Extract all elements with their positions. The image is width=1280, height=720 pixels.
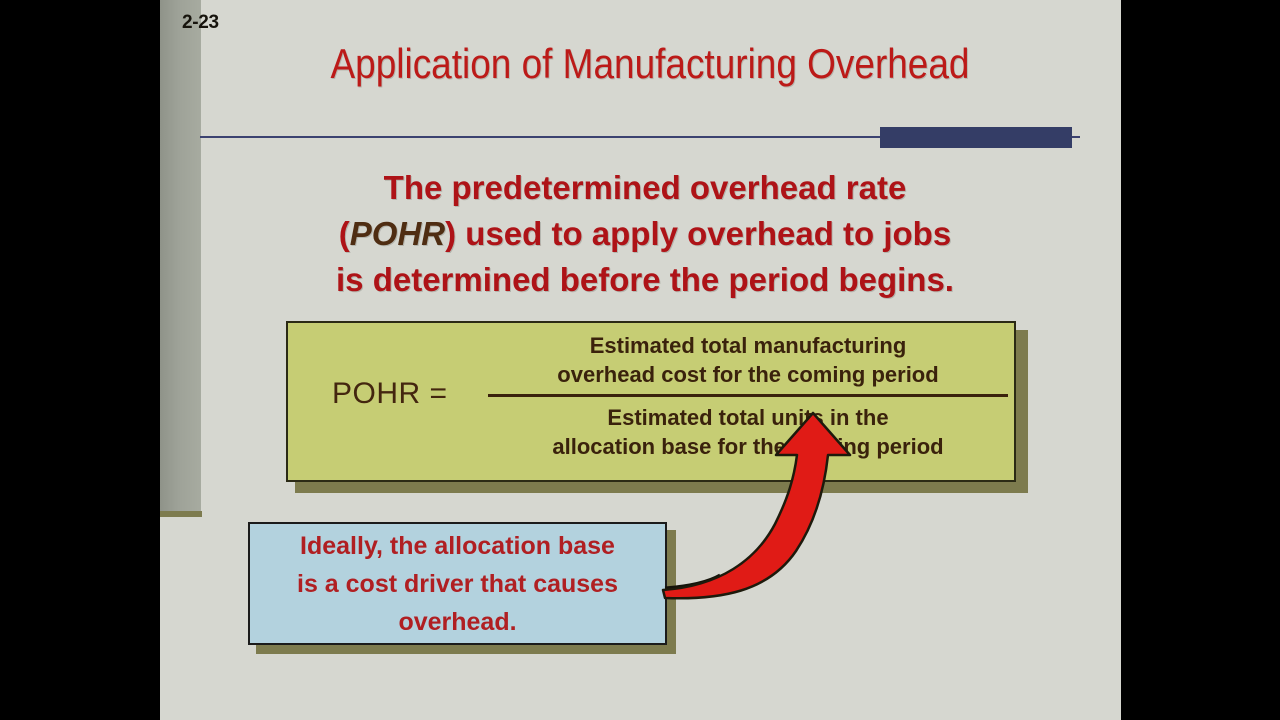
statement-line-2: (POHR) used to apply overhead to jobs [200,211,1090,257]
main-statement: The predetermined overhead rate (POHR) u… [200,165,1090,303]
statement-line-1: The predetermined overhead rate [200,165,1090,211]
title-accent-bar [880,127,1072,148]
statement-line-2-rest: ) used to apply overhead to jobs [445,215,951,252]
callout-line-2: is a cost driver that causes [297,565,618,603]
formula-fraction: Estimated total manufacturing overhead c… [488,331,1008,461]
formula-denominator: Estimated total units in the allocation … [488,403,1008,461]
statement-paren-open: ( [339,215,350,252]
statement-line-3: is determined before the period begins. [200,257,1090,303]
slide-number: 2-23 [182,12,219,34]
callout-text: Ideally, the allocation base is a cost d… [297,527,618,641]
formula-numerator-line-2: overhead cost for the coming period [488,360,1008,389]
formula-fraction-bar [488,394,1008,397]
page-title: Application of Manufacturing Overhead [258,40,1041,88]
formula-label: POHR = [332,377,448,411]
letterbox-right [1121,0,1280,720]
letterbox-left [0,0,160,720]
statement-pohr-emphasis: POHR [350,215,445,252]
formula-numerator: Estimated total manufacturing overhead c… [488,331,1008,389]
presentation-slide: 2-23 Application of Manufacturing Overhe… [160,0,1121,720]
callout-box: Ideally, the allocation base is a cost d… [248,522,667,645]
callout-line-1: Ideally, the allocation base [297,527,618,565]
screenshot-stage: 2-23 Application of Manufacturing Overhe… [0,0,1280,720]
formula-denominator-line-1: Estimated total units in the [488,403,1008,432]
slide-left-band-foot [160,511,202,517]
formula-box: POHR = Estimated total manufacturing ove… [286,321,1016,482]
formula-numerator-line-1: Estimated total manufacturing [488,331,1008,360]
callout-line-3: overhead. [297,603,618,641]
formula-denominator-line-2: allocation base for the coming period [488,432,1008,461]
slide-left-accent-band [160,0,201,511]
